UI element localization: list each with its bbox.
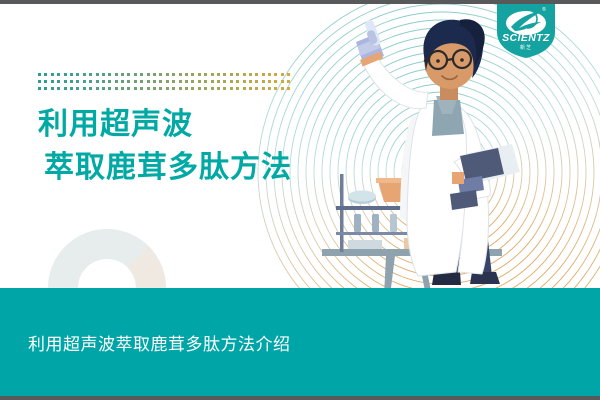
caption-band: 利用超声波萃取鹿茸多肽方法介绍 bbox=[0, 288, 600, 396]
page-title-line-2: 萃取鹿茸多肽方法 bbox=[38, 147, 292, 190]
dot-grid-cell bbox=[185, 87, 188, 90]
dot-grid-cell bbox=[57, 80, 60, 83]
caption-text: 利用超声波萃取鹿茸多肽方法介绍 bbox=[28, 330, 291, 355]
dot-grid-cell bbox=[211, 87, 214, 90]
dot-grid-cell bbox=[147, 73, 150, 76]
dot-grid-cell bbox=[223, 87, 226, 90]
dot-grid-cell bbox=[223, 73, 226, 76]
dot-grid-cell bbox=[76, 80, 79, 83]
dot-grid-cell bbox=[83, 73, 86, 76]
dot-grid-cell bbox=[268, 73, 271, 76]
dot-grid-cell bbox=[166, 73, 169, 76]
dot-grid-cell bbox=[243, 87, 246, 90]
dot-grid-cell bbox=[172, 80, 175, 83]
dot-grid-cell bbox=[262, 73, 265, 76]
dot-grid-cell bbox=[217, 80, 220, 83]
registered-mark-icon: ® bbox=[542, 6, 546, 13]
dot-grid-cell bbox=[115, 73, 118, 76]
dot-grid-cell bbox=[108, 73, 111, 76]
dot-grid-cell bbox=[108, 80, 111, 83]
dot-grid-cell bbox=[44, 80, 47, 83]
logo-sub-wordmark: 新芝 bbox=[520, 44, 532, 51]
dot-grid-cell bbox=[134, 87, 137, 90]
dot-grid-cell bbox=[274, 80, 277, 83]
dot-grid-cell bbox=[83, 87, 86, 90]
scientist-illustration bbox=[300, 4, 600, 304]
dot-grid-cell bbox=[147, 80, 150, 83]
dot-grid-cell bbox=[255, 80, 258, 83]
dot-grid-row bbox=[38, 73, 294, 80]
dot-grid-cell bbox=[51, 80, 54, 83]
dot-grid-cell bbox=[185, 80, 188, 83]
dot-grid-cell bbox=[166, 80, 169, 83]
dot-grid-cell bbox=[140, 87, 143, 90]
dot-grid-cell bbox=[57, 87, 60, 90]
dot-grid-cell bbox=[230, 87, 233, 90]
page-title: 利用超声波 萃取鹿茸多肽方法 bbox=[38, 104, 292, 189]
dot-grid-cell bbox=[211, 73, 214, 76]
dot-grid-cell bbox=[230, 80, 233, 83]
dot-grid-cell bbox=[281, 73, 284, 76]
dot-grid-cell bbox=[70, 87, 73, 90]
dot-grid-cell bbox=[249, 80, 252, 83]
dot-grid-cell bbox=[179, 87, 182, 90]
dot-grid-cell bbox=[211, 80, 214, 83]
dot-grid-cell bbox=[121, 87, 124, 90]
dot-grid-cell bbox=[121, 73, 124, 76]
dot-grid-cell bbox=[255, 87, 258, 90]
scientz-logo[interactable]: SCIENTZ 新芝 ® bbox=[497, 0, 555, 58]
dot-grid-cell bbox=[223, 80, 226, 83]
dot-grid-cell bbox=[179, 73, 182, 76]
dot-grid-cell bbox=[153, 73, 156, 76]
dot-grid-cell bbox=[64, 87, 67, 90]
dot-grid-cell bbox=[274, 73, 277, 76]
dot-grid-cell bbox=[262, 87, 265, 90]
dot-grid-cell bbox=[70, 73, 73, 76]
dot-grid-cell bbox=[172, 87, 175, 90]
dot-grid-cell bbox=[198, 73, 201, 76]
dot-grid-cell bbox=[115, 87, 118, 90]
dot-grid-cell bbox=[89, 73, 92, 76]
dot-grid-cell bbox=[140, 80, 143, 83]
dot-grid-cell bbox=[108, 87, 111, 90]
dot-grid-cell bbox=[236, 87, 239, 90]
dot-grid-cell bbox=[89, 80, 92, 83]
dot-grid-row bbox=[38, 87, 294, 94]
dot-grid-cell bbox=[38, 87, 41, 90]
dot-grid-cell bbox=[204, 87, 207, 90]
dot-grid-cell bbox=[44, 73, 47, 76]
dot-grid-cell bbox=[76, 87, 79, 90]
dot-grid-cell bbox=[96, 73, 99, 76]
dot-grid-cell bbox=[185, 73, 188, 76]
dot-grid-cell bbox=[134, 73, 137, 76]
dot-grid-cell bbox=[57, 73, 60, 76]
dot-grid-cell bbox=[96, 80, 99, 83]
dot-grid-decoration bbox=[38, 73, 294, 94]
dot-grid-cell bbox=[102, 87, 105, 90]
dot-grid-cell bbox=[38, 80, 41, 83]
dot-grid-cell bbox=[102, 73, 105, 76]
top-chrome-bar bbox=[0, 0, 600, 4]
dot-grid-cell bbox=[89, 87, 92, 90]
dot-grid-cell bbox=[217, 73, 220, 76]
slide-stage: 利用超声波 萃取鹿茸多肽方法 bbox=[0, 4, 600, 396]
dot-grid-cell bbox=[127, 87, 130, 90]
dot-grid-cell bbox=[281, 80, 284, 83]
dot-grid-cell bbox=[179, 80, 182, 83]
logo-wordmark: SCIENTZ bbox=[502, 32, 550, 44]
dot-grid-cell bbox=[198, 80, 201, 83]
dot-grid-cell bbox=[140, 73, 143, 76]
dot-grid-cell bbox=[287, 80, 290, 83]
dot-grid-cell bbox=[38, 73, 41, 76]
dot-grid-cell bbox=[249, 87, 252, 90]
dot-grid-cell bbox=[147, 87, 150, 90]
dot-grid-cell bbox=[236, 73, 239, 76]
dot-grid-cell bbox=[281, 87, 284, 90]
dot-grid-cell bbox=[204, 73, 207, 76]
dot-grid-cell bbox=[274, 87, 277, 90]
dot-grid-cell bbox=[127, 73, 130, 76]
dot-grid-cell bbox=[191, 80, 194, 83]
dot-grid-cell bbox=[153, 87, 156, 90]
dot-grid-row bbox=[38, 80, 294, 87]
dot-grid-cell bbox=[198, 87, 201, 90]
dot-grid-cell bbox=[191, 73, 194, 76]
dot-grid-cell bbox=[243, 73, 246, 76]
dot-grid-cell bbox=[153, 80, 156, 83]
dot-grid-cell bbox=[70, 80, 73, 83]
dot-grid-cell bbox=[115, 80, 118, 83]
dot-grid-cell bbox=[127, 80, 130, 83]
dot-grid-cell bbox=[236, 80, 239, 83]
page-title-line-1: 利用超声波 bbox=[38, 104, 292, 147]
dot-grid-cell bbox=[268, 80, 271, 83]
dot-grid-cell bbox=[51, 87, 54, 90]
dot-grid-cell bbox=[159, 80, 162, 83]
dot-grid-cell bbox=[159, 87, 162, 90]
presentation-slide: 利用超声波 萃取鹿茸多肽方法 bbox=[0, 0, 600, 400]
dot-grid-cell bbox=[159, 73, 162, 76]
dot-grid-cell bbox=[51, 73, 54, 76]
dot-grid-cell bbox=[230, 73, 233, 76]
dot-grid-cell bbox=[44, 87, 47, 90]
dot-grid-cell bbox=[287, 73, 290, 76]
dot-grid-cell bbox=[204, 80, 207, 83]
dot-grid-cell bbox=[255, 73, 258, 76]
dot-grid-cell bbox=[243, 80, 246, 83]
dot-grid-cell bbox=[134, 80, 137, 83]
dot-grid-cell bbox=[166, 87, 169, 90]
dot-grid-cell bbox=[121, 80, 124, 83]
dot-grid-cell bbox=[76, 73, 79, 76]
dot-grid-cell bbox=[96, 87, 99, 90]
dot-grid-cell bbox=[249, 73, 252, 76]
dot-grid-cell bbox=[83, 80, 86, 83]
dot-grid-cell bbox=[287, 87, 290, 90]
bottom-chrome-bar bbox=[0, 396, 600, 400]
dot-grid-cell bbox=[217, 87, 220, 90]
dot-grid-cell bbox=[102, 80, 105, 83]
dot-grid-cell bbox=[191, 87, 194, 90]
dot-grid-cell bbox=[172, 73, 175, 76]
dot-grid-cell bbox=[268, 87, 271, 90]
dot-grid-cell bbox=[64, 73, 67, 76]
dot-grid-cell bbox=[64, 80, 67, 83]
dot-grid-cell bbox=[262, 80, 265, 83]
